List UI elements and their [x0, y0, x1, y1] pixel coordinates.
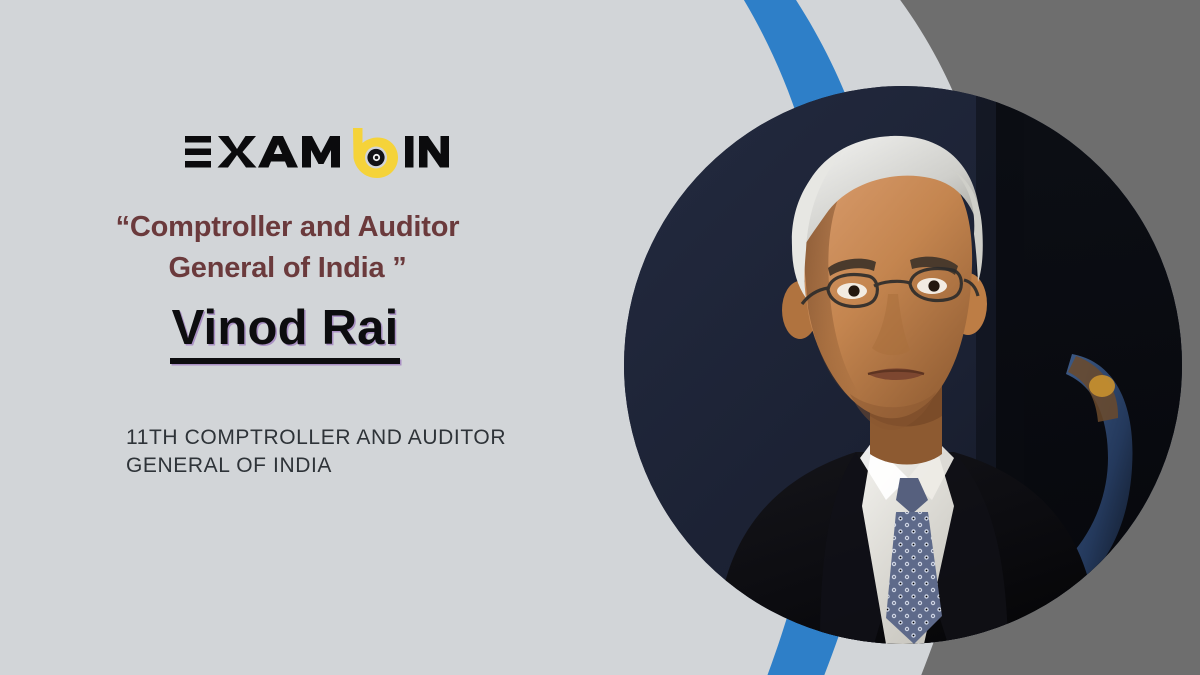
person-name: Vinod Rai [172, 300, 399, 364]
text-column: “Comptroller and Auditor General of Indi… [0, 0, 600, 675]
portrait-illustration [624, 86, 1182, 644]
person-title-caption: 11TH COMPTROLLER AND AUDITOR GENERAL OF … [126, 424, 526, 480]
quote-line-1: “Comptroller and Auditor [0, 207, 575, 248]
caption-line-1: 11TH COMPTROLLER AND AUDITOR [126, 424, 526, 452]
poster-canvas: “Comptroller and Auditor General of Indi… [0, 0, 1200, 675]
caption-line-2: GENERAL OF INDIA [126, 452, 526, 480]
quote-heading: “Comptroller and Auditor General of Indi… [0, 207, 575, 289]
name-underline [170, 358, 401, 364]
logo-b-mark [353, 128, 398, 178]
logo-text-inge [405, 136, 449, 168]
logo-artwork [185, 126, 460, 182]
chair-knob [1089, 375, 1115, 397]
quote-line-2: General of India ” [0, 248, 575, 289]
portrait-photo [624, 86, 1182, 644]
person-name-text: Vinod Rai [172, 301, 399, 355]
exambinge-logo[interactable] [185, 126, 460, 182]
logo-text-exam [185, 136, 340, 168]
person-name-block: Vinod Rai [0, 300, 570, 364]
